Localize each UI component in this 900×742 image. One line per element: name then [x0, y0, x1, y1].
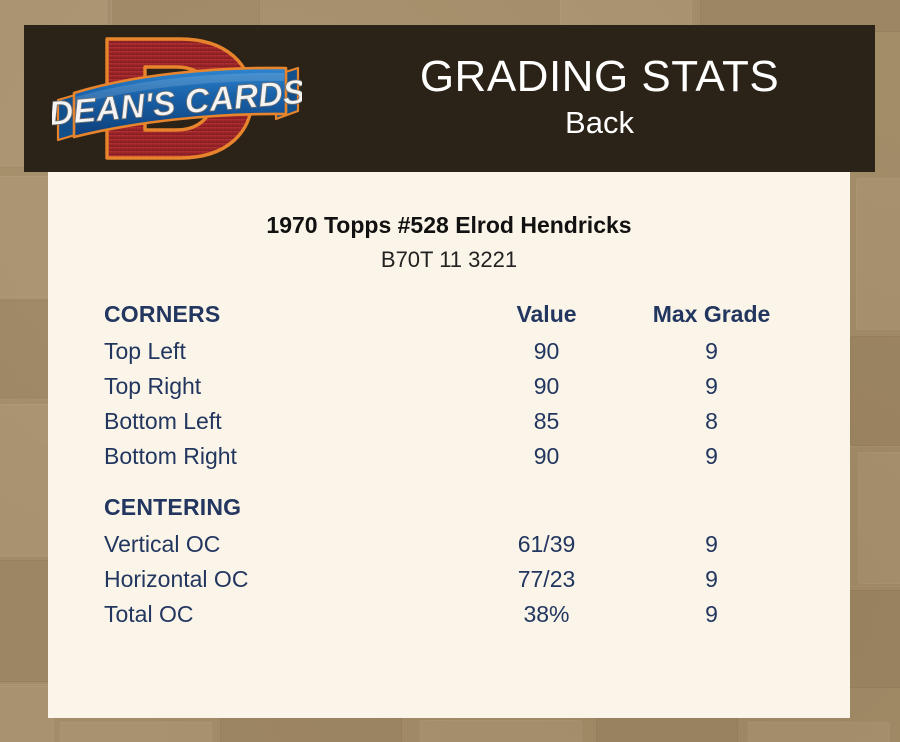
max-grade-column-header — [629, 494, 794, 531]
stat-value: 61/39 — [464, 531, 629, 566]
card-title: 1970 Topps #528 Elrod Hendricks — [48, 212, 850, 240]
max-grade-column-header: Max Grade — [629, 301, 794, 338]
table-row: Total OC38%9 — [104, 601, 794, 636]
stat-max-grade: 8 — [629, 408, 794, 443]
stat-label: Horizontal OC — [104, 566, 464, 601]
grading-stats-table: CORNERSValueMax GradeTop Left909Top Righ… — [104, 301, 794, 636]
header-title-block: GRADING STATS Back — [324, 25, 875, 172]
grading-stats-body: CORNERSValueMax GradeTop Left909Top Righ… — [104, 301, 794, 636]
table-spacer-cell — [104, 478, 794, 494]
stat-value: 77/23 — [464, 566, 629, 601]
card-serial-number: B70T 11 3221 — [48, 247, 850, 273]
page-subtitle: Back — [565, 104, 634, 143]
table-row: Bottom Right909 — [104, 443, 794, 478]
stat-value: 90 — [464, 338, 629, 373]
stat-value: 90 — [464, 443, 629, 478]
deans-cards-logo[interactable]: DEAN'S CARDS — [52, 27, 302, 170]
section-header-row: CORNERSValueMax Grade — [104, 301, 794, 338]
stat-max-grade: 9 — [629, 373, 794, 408]
stat-label: Total OC — [104, 601, 464, 636]
section-title: CORNERS — [104, 301, 464, 338]
stat-label: Bottom Right — [104, 443, 464, 478]
stat-label: Top Left — [104, 338, 464, 373]
card-identity-block: 1970 Topps #528 Elrod Hendricks B70T 11 … — [48, 212, 850, 273]
stat-label: Vertical OC — [104, 531, 464, 566]
stat-max-grade: 9 — [629, 338, 794, 373]
stat-value: 38% — [464, 601, 629, 636]
stat-value: 90 — [464, 373, 629, 408]
stat-max-grade: 9 — [629, 531, 794, 566]
stat-value: 85 — [464, 408, 629, 443]
stat-max-grade: 9 — [629, 443, 794, 478]
table-row: Top Left909 — [104, 338, 794, 373]
table-spacer-row — [104, 478, 794, 494]
content-panel: 1970 Topps #528 Elrod Hendricks B70T 11 … — [48, 172, 850, 718]
page-title: GRADING STATS — [420, 54, 779, 100]
section-header-row: CENTERING — [104, 494, 794, 531]
header-bar: DEAN'S CARDS GRADING STATS Back — [24, 25, 875, 172]
table-row: Vertical OC61/399 — [104, 531, 794, 566]
value-column-header: Value — [464, 301, 629, 338]
table-row: Bottom Left858 — [104, 408, 794, 443]
stat-label: Bottom Left — [104, 408, 464, 443]
section-title: CENTERING — [104, 494, 464, 531]
stat-label: Top Right — [104, 373, 464, 408]
stat-max-grade: 9 — [629, 601, 794, 636]
table-row: Top Right909 — [104, 373, 794, 408]
stat-max-grade: 9 — [629, 566, 794, 601]
table-row: Horizontal OC77/239 — [104, 566, 794, 601]
value-column-header — [464, 494, 629, 531]
